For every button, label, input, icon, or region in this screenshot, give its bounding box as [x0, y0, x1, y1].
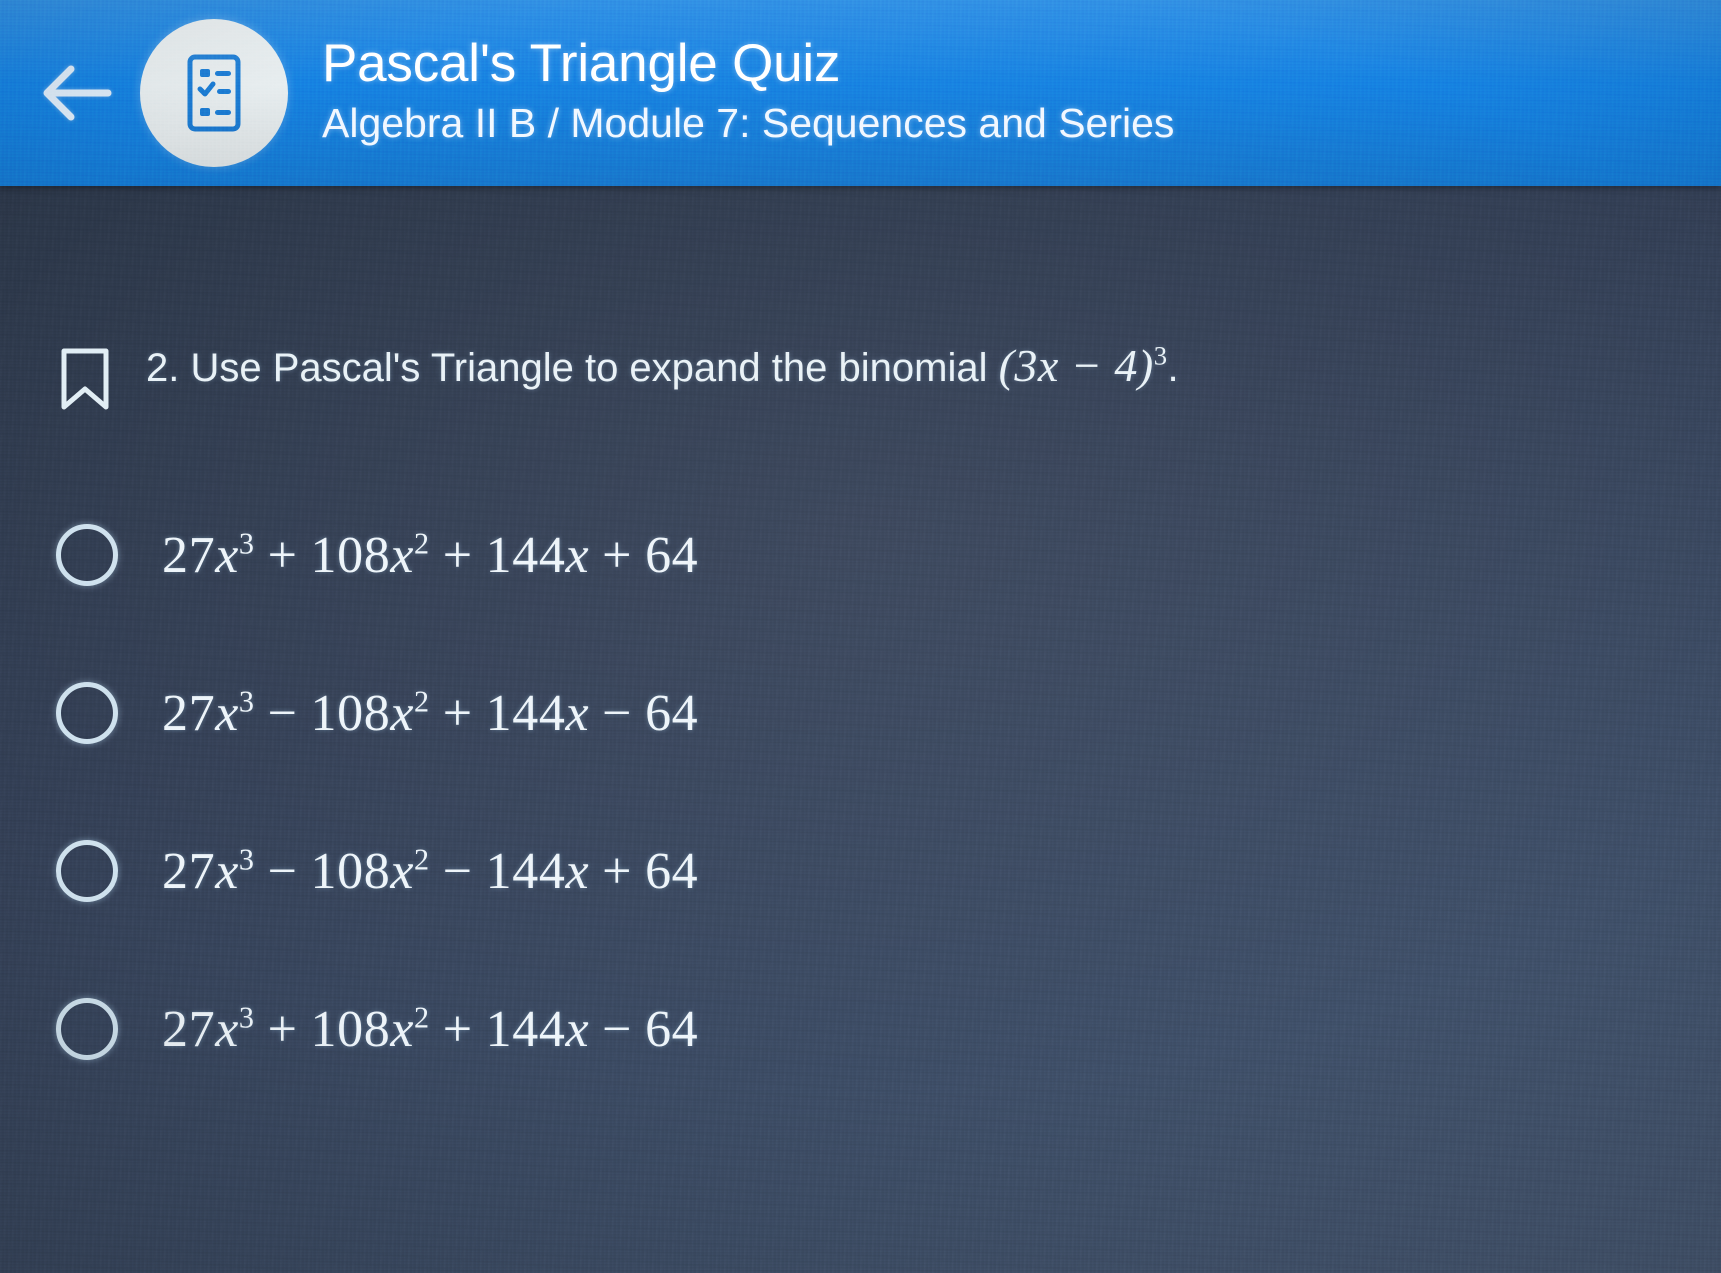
answer-option-option-a[interactable]: 27x3+108x2+144x+64	[56, 476, 1356, 634]
math-exponent: 3	[239, 842, 255, 876]
math-operator: +	[589, 527, 645, 584]
answer-option-label: 27x3+108x2+144x+64	[162, 526, 698, 585]
math-variable: x	[565, 843, 589, 900]
math-coefficient: 144	[486, 1001, 566, 1058]
math-variable: x	[215, 1001, 239, 1058]
back-button[interactable]	[16, 33, 136, 153]
math-variable: x	[565, 685, 589, 742]
math-coefficient: 27	[162, 843, 215, 900]
app-header-text: Pascal's Triangle Quiz Algebra II B / Mo…	[322, 36, 1174, 149]
math-exponent: 2	[414, 526, 430, 560]
math-coefficient: 27	[162, 1001, 215, 1058]
bookmark-icon[interactable]	[56, 346, 114, 412]
math-variable: x	[390, 685, 414, 742]
math-variable: x	[390, 843, 414, 900]
math-coefficient: 108	[311, 685, 391, 742]
radio-button[interactable]	[56, 840, 118, 902]
math-exponent: 3	[239, 1000, 255, 1034]
avatar	[140, 19, 288, 167]
answer-option-option-c[interactable]: 27x3−108x2−144x+64	[56, 792, 1356, 950]
arrow-left-icon	[38, 60, 114, 126]
math-coefficient: 64	[645, 843, 698, 900]
math-operator: +	[589, 843, 645, 900]
quiz-body: 2. Use Pascal's Triangle to expand the b…	[0, 186, 1721, 1273]
math-operator: −	[255, 685, 311, 742]
answer-option-label: 27x3−108x2−144x+64	[162, 842, 698, 901]
answer-option-label: 27x3+108x2+144x−64	[162, 1000, 698, 1059]
math-exponent: 2	[414, 842, 430, 876]
math-variable: x	[390, 1001, 414, 1058]
page-title: Pascal's Triangle Quiz	[322, 36, 1174, 92]
math-coefficient: 64	[645, 685, 698, 742]
math-variable: x	[390, 527, 414, 584]
math-variable: x	[565, 1001, 589, 1058]
math-coefficient: 144	[486, 843, 566, 900]
answer-option-option-b[interactable]: 27x3−108x2+144x−64	[56, 634, 1356, 792]
math-exponent: 2	[414, 684, 430, 718]
math-variable: x	[215, 685, 239, 742]
math-operator: +	[430, 1001, 486, 1058]
question-prompt: Use Pascal's Triangle to expand the bino…	[190, 346, 987, 390]
question-expression-base: (3x − 4)	[999, 340, 1154, 391]
math-coefficient: 27	[162, 527, 215, 584]
math-operator: −	[255, 843, 311, 900]
radio-button[interactable]	[56, 682, 118, 744]
app-header-bar: Pascal's Triangle Quiz Algebra II B / Mo…	[0, 0, 1721, 186]
math-variable: x	[565, 527, 589, 584]
question-number: 2.	[146, 346, 179, 390]
question-block: 2. Use Pascal's Triangle to expand the b…	[56, 338, 1681, 412]
math-coefficient: 64	[645, 1001, 698, 1058]
math-operator: −	[589, 1001, 645, 1058]
math-exponent: 3	[239, 684, 255, 718]
answer-options-list: 27x3+108x2+144x+6427x3−108x2+144x−6427x3…	[56, 476, 1356, 1108]
math-exponent: 3	[239, 526, 255, 560]
question-expression-exponent: 3	[1154, 341, 1168, 371]
math-exponent: 2	[414, 1000, 430, 1034]
math-operator: −	[589, 685, 645, 742]
quiz-screen-photo: Pascal's Triangle Quiz Algebra II B / Mo…	[0, 0, 1721, 1273]
breadcrumb: Algebra II B / Module 7: Sequences and S…	[322, 98, 1174, 149]
answer-option-label: 27x3−108x2+144x−64	[162, 684, 698, 743]
math-coefficient: 64	[645, 527, 698, 584]
radio-button[interactable]	[56, 524, 118, 586]
math-operator: −	[430, 843, 486, 900]
answer-option-option-d[interactable]: 27x3+108x2+144x−64	[56, 950, 1356, 1108]
math-operator: +	[255, 527, 311, 584]
question-text: 2. Use Pascal's Triangle to expand the b…	[146, 338, 1179, 394]
radio-button[interactable]	[56, 998, 118, 1060]
math-coefficient: 27	[162, 685, 215, 742]
math-operator: +	[430, 527, 486, 584]
math-coefficient: 108	[311, 527, 391, 584]
math-variable: x	[215, 843, 239, 900]
math-coefficient: 108	[311, 843, 391, 900]
math-variable: x	[215, 527, 239, 584]
question-period: .	[1168, 346, 1179, 390]
math-operator: +	[430, 685, 486, 742]
math-coefficient: 144	[486, 685, 566, 742]
question-expression: (3x − 4)3	[999, 340, 1168, 391]
math-operator: +	[255, 1001, 311, 1058]
math-coefficient: 108	[311, 1001, 391, 1058]
math-coefficient: 144	[486, 527, 566, 584]
quiz-list-icon	[177, 51, 251, 135]
